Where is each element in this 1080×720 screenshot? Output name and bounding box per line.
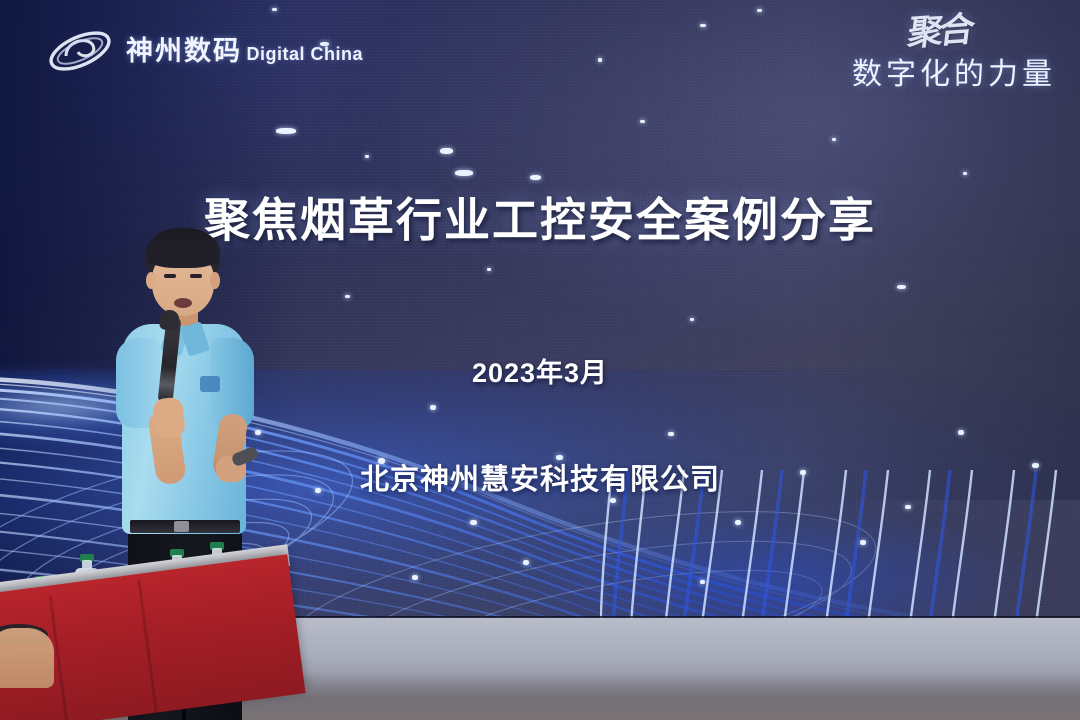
speaker-eye-right [190,274,202,278]
speaker-ear-left [146,272,156,289]
speaker-eye-left [164,274,176,278]
light-particle [700,580,705,584]
logo-name-cn: 神州数码 [126,36,242,66]
light-particle [455,170,473,176]
swirl-galaxy-icon [44,22,116,80]
light-particle [412,575,418,580]
light-particle [276,128,296,134]
light-particle [598,58,602,62]
event-logo: 聚合 数字化的力量 [852,16,1056,90]
light-particle [735,520,741,525]
light-particle [430,405,436,410]
light-particle [860,540,866,545]
speaker-hand-left [152,397,186,440]
light-particle [700,24,706,27]
light-particle [958,430,964,435]
speaker-mouth [174,298,192,308]
logo-name-en: Digital China [246,44,363,64]
stage-photo: 神州数码 Digital China 聚合 数字化的力量 聚焦烟草行业工控安全案… [0,0,1080,720]
light-particle [470,520,477,525]
light-particle [272,8,277,11]
light-particle [523,560,529,565]
light-particle [897,285,906,289]
light-particle [610,498,616,503]
light-particle [905,505,911,509]
light-particle [963,172,967,175]
speaker-hair-fringe [148,246,218,268]
light-particle [690,318,694,321]
light-particle [530,175,541,180]
light-particle [668,432,674,436]
speaker-ear-right [210,272,220,289]
belt-buckle-icon [174,521,189,532]
cloth-fold [137,580,157,713]
shirt-logo-icon [200,376,220,392]
light-particle [832,138,836,141]
light-particle [640,120,645,123]
light-particle [345,295,350,298]
event-slogan: 数字化的力量 [852,60,1056,90]
light-particle [487,268,491,271]
event-calligraphy: 聚合 [849,12,973,55]
light-particle [440,148,453,154]
seated-attendee [0,628,54,688]
light-particle [365,155,369,158]
light-particle [757,9,762,12]
digital-china-logo: 神州数码 Digital China [44,22,363,80]
microphone-head-icon [159,309,180,331]
